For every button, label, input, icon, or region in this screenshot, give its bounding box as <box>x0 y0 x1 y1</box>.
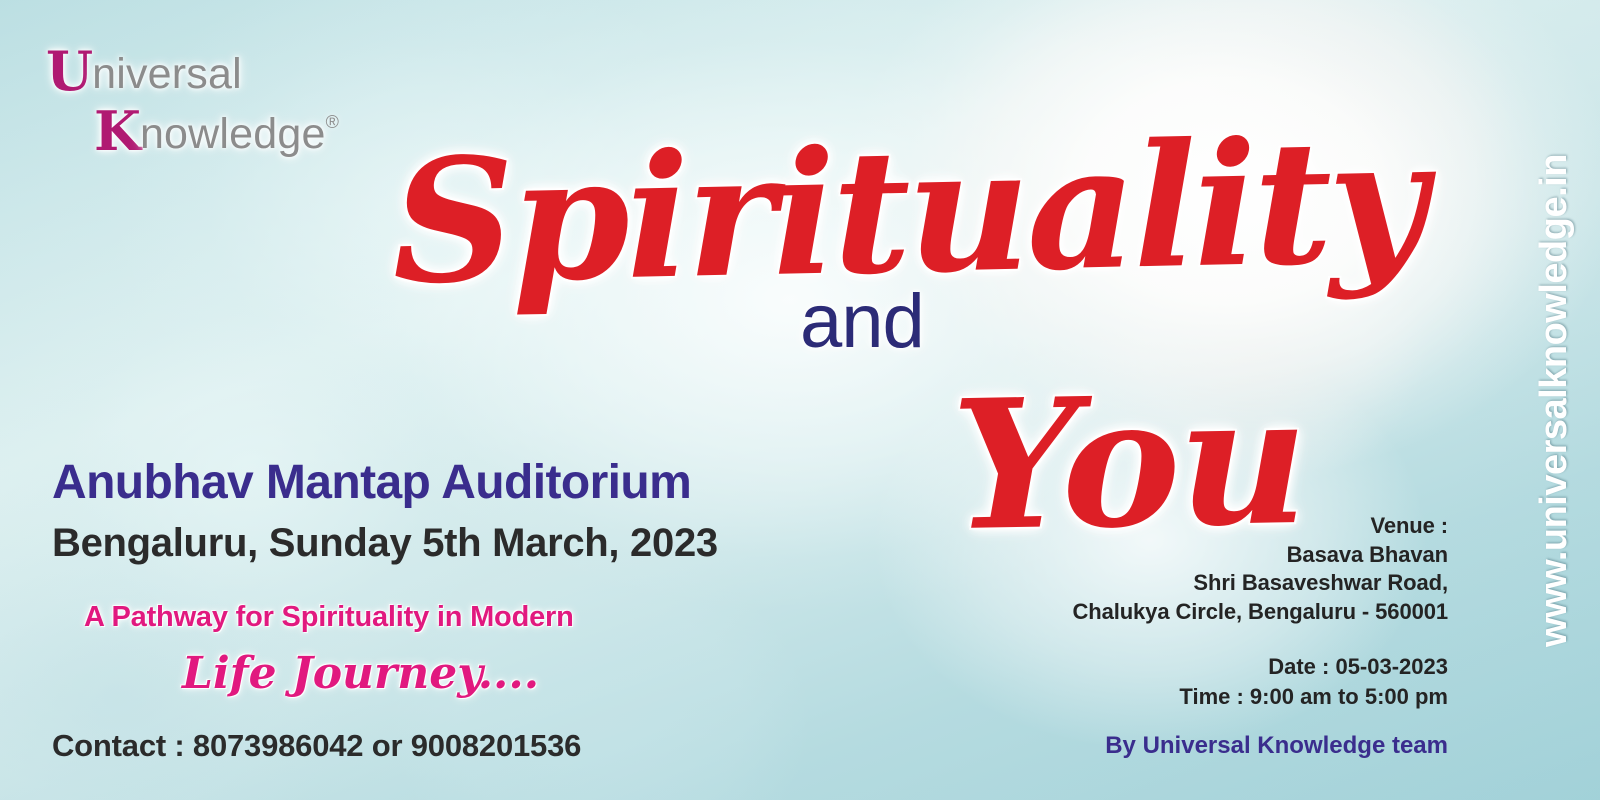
date-time-block: Date : 05-03-2023 Time : 9:00 am to 5:00… <box>1179 652 1448 711</box>
logo-line-knowledge: Knowledge® <box>94 104 339 158</box>
logo-text-nowledge: nowledge <box>140 110 326 158</box>
website-url-text: www.universalknowledge.in <box>1533 154 1576 647</box>
event-time: Time : 9:00 am to 5:00 pm <box>1179 682 1448 712</box>
organizer-byline: By Universal Knowledge team <box>1105 732 1448 760</box>
tagline-line-1: A Pathway for Spirituality in Modern <box>84 601 574 634</box>
logo-text-niversal: niversal <box>92 50 242 98</box>
tagline-line-2: Life Journey.... <box>182 648 539 699</box>
registered-trademark-icon: ® <box>326 112 339 132</box>
venue-locality: Chalukya Circle, Bengaluru - 560001 <box>1072 598 1448 627</box>
venue-street: Shri Basaveshwar Road, <box>1072 569 1448 598</box>
title-spirituality: Spirituality <box>390 101 1425 323</box>
logo-capital-u: U <box>46 39 92 103</box>
contact-line: Contact : 8073986042 or 9008201536 <box>52 728 581 764</box>
venue-heading: Anubhav Mantap Auditorium <box>52 455 691 510</box>
event-date: Date : 05-03-2023 <box>1179 652 1448 682</box>
venue-label: Venue : <box>1072 512 1448 541</box>
venue-details-block: Venue : Basava Bhavan Shri Basaveshwar R… <box>1072 512 1448 626</box>
venue-name: Basava Bhavan <box>1072 541 1448 570</box>
title-connector-and: and <box>800 278 924 365</box>
logo-line-universal: Universal <box>46 44 339 98</box>
website-url-vertical[interactable]: www.universalknowledge.in <box>1524 0 1584 800</box>
event-banner: Universal Knowledge® Spirituality and Yo… <box>0 0 1600 800</box>
logo-capital-k: K <box>94 99 140 163</box>
city-date-line: Bengaluru, Sunday 5th March, 2023 <box>52 521 718 566</box>
brand-logo: Universal Knowledge® <box>46 44 339 158</box>
